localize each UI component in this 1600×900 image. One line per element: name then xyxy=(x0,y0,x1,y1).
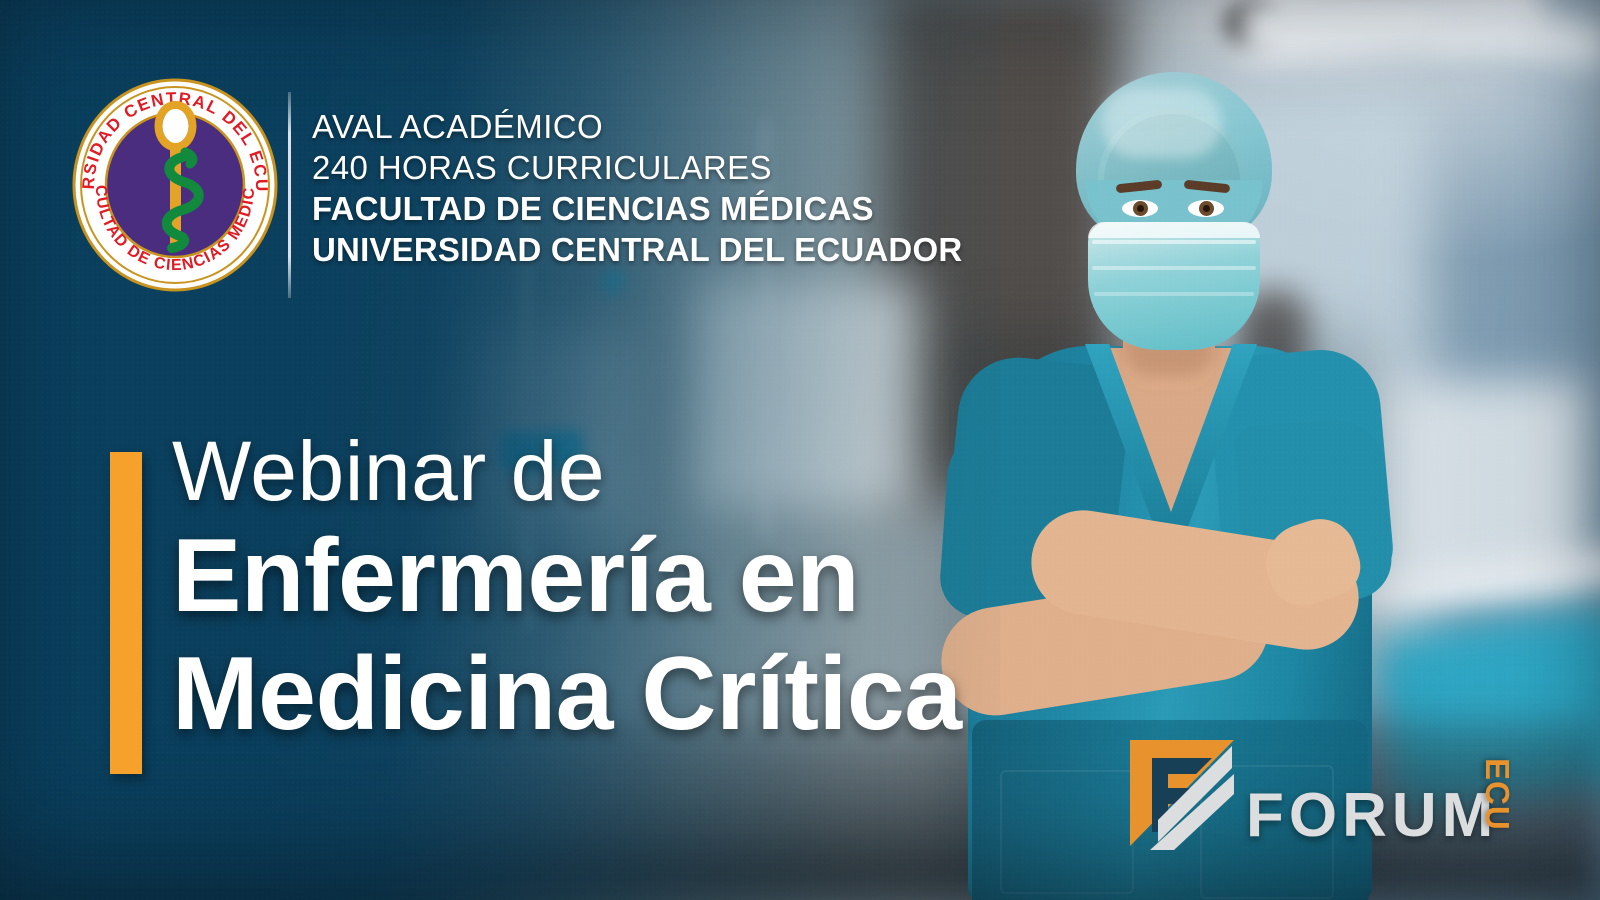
forum-wordmark: FORUM xyxy=(1246,780,1498,851)
university-seal: UNIVERSIDAD CENTRAL DEL ECUADOR FACULTAD… xyxy=(72,78,278,292)
headline-line-1: Webinar de xyxy=(172,425,1132,517)
accreditation-line-2: 240 HORAS CURRICULARES xyxy=(312,147,992,188)
accreditation-line-1: AVAL ACADÉMICO xyxy=(312,106,992,147)
headline-block: Webinar de Enfermería en Medicina Crític… xyxy=(172,425,1132,753)
forum-logo: FORUM ECU xyxy=(1128,738,1568,858)
headline-line-2: Enfermería en xyxy=(172,517,1132,635)
accreditation-line-4: UNIVERSIDAD CENTRAL DEL ECUADOR xyxy=(312,229,992,270)
accreditation-line-3: FACULTAD DE CIENCIAS MÉDICAS xyxy=(312,188,992,229)
accreditation-block: AVAL ACADÉMICO 240 HORAS CURRICULARES FA… xyxy=(312,106,992,270)
vertical-divider xyxy=(288,92,291,298)
orange-accent-bar xyxy=(110,452,142,774)
forum-f-mark-icon xyxy=(1128,738,1236,850)
promo-banner: UNIVERSIDAD CENTRAL DEL ECUADOR FACULTAD… xyxy=(0,0,1600,900)
headline-line-3: Medicina Crítica xyxy=(172,635,1132,753)
forum-ecu-suffix: ECU xyxy=(1478,758,1516,831)
